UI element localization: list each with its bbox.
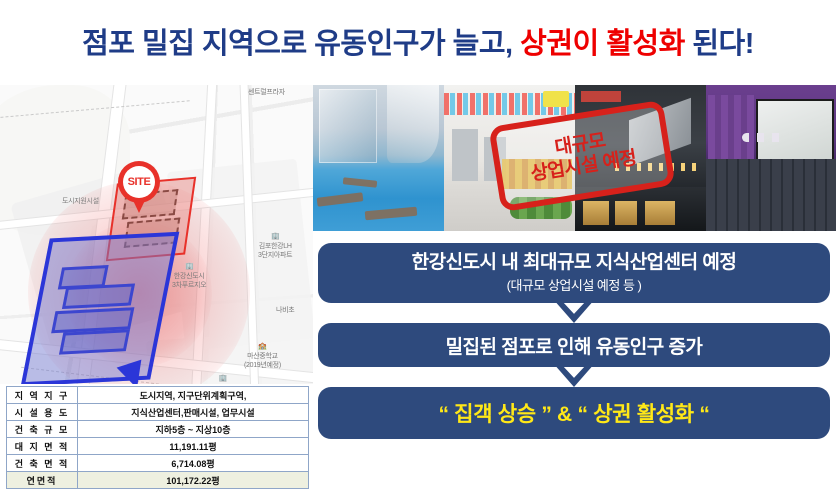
photo-detail (756, 99, 834, 165)
photo-detail (365, 207, 418, 220)
map-label-line2: 3단지아파트 (258, 252, 292, 259)
flow-box-3: “ 집객 상승 ” & “ 상권 활성화 “ (318, 387, 830, 439)
table-row: 지 역 지 구 도시지역, 지구단위계획구역, (7, 387, 309, 404)
photo-detail (583, 201, 609, 225)
table-row: 연면적 101,172.22평 (7, 472, 309, 489)
map-label-nabi-elem: 나비초 (276, 307, 294, 316)
map-label-hangang-prugio: 🏢 한강신도시 3차푸르지오 (172, 263, 206, 290)
map-label-line2: (2019년예정) (244, 362, 281, 369)
flow-box-1-line2: (대규모 상업시설 예정 등 ) (507, 275, 642, 294)
slide-root: 점포 밀집 지역으로 유동인구가 늘고, 상권이 활성화 된다! (0, 0, 836, 493)
building-icon: 🏢 (186, 375, 260, 384)
flow-box-1: 한강신도시 내 최대규모 지식산업센터 예정 (대규모 상업시설 예정 등 ) (318, 243, 830, 303)
table-cell-value: 11,191.11평 (78, 438, 309, 455)
building-icon: 🏢 (172, 263, 206, 272)
title-text-part1: 점포 밀집 지역으로 유동인구가 늘고, (82, 28, 520, 60)
map-label-gimpo-lh: 🏢 김포한강LH 3단지아파트 (258, 233, 292, 260)
map-label-central-plaza: 센트럴프라자 (248, 89, 285, 98)
table-cell-key: 건 축 규 모 (7, 421, 78, 438)
map-parcel-block (59, 329, 130, 354)
table-cell-key: 연면적 (7, 472, 78, 489)
table-cell-value: 6,714.08평 (78, 455, 309, 472)
table-row: 시 설 용 도 지식산업센터,판매시설, 업무시설 (7, 404, 309, 421)
photo-detail (742, 133, 786, 142)
table-cell-value: 101,172.22평 (78, 472, 309, 489)
map-label-masan-middle: 🏫 마산중학교 (2019년예정) (244, 343, 281, 370)
map-label-dosiji: 도시지원시설 (62, 198, 99, 207)
photo-detail (615, 201, 637, 225)
table-row: 건 축 면 적 6,714.08평 (7, 455, 309, 472)
table-cell-key: 지 역 지 구 (7, 387, 78, 404)
photo-detail (343, 177, 378, 188)
building-icon: 🏢 (258, 233, 292, 242)
cinema-photo (706, 85, 836, 231)
flow-box-2-line1: 밀집된 점포로 인해 유동인구 증가 (446, 332, 703, 359)
flow-box-3-line1: “ 집객 상승 ” & “ 상권 활성화 “ (438, 398, 709, 428)
table-cell-value: 도시지역, 지구단위계획구역, (78, 387, 309, 404)
photo-detail (543, 91, 569, 107)
table-row: 건 축 규 모 지하5층 ~ 지상10층 (7, 421, 309, 438)
map-label-line1: 마산중학교 (247, 353, 278, 360)
flow-box-2: 밀집된 점포로 인해 유동인구 증가 (318, 323, 830, 367)
table-cell-key: 대 지 면 적 (7, 438, 78, 455)
title-bar: 점포 밀집 지역으로 유동인구가 늘고, 상권이 활성화 된다! (0, 0, 836, 82)
map-label-line1: 한강신도시 (174, 273, 205, 280)
photo-detail (452, 129, 478, 181)
school-icon: 🏫 (244, 343, 281, 352)
photo-detail (706, 159, 836, 231)
map-site-pin[interactable]: SITE (118, 161, 160, 213)
title-text-highlight: 상권이 활성화 (520, 28, 685, 60)
table-cell-value: 지식산업센터,판매시설, 업무시설 (78, 404, 309, 421)
map-pin-head-icon: SITE (118, 161, 160, 203)
location-map[interactable]: SITE 도시지원시설 센트럴프라자 🏢 한강신도시 3차푸르지오 🏢 김포한강… (0, 85, 313, 384)
map-pin-label: SITE (123, 166, 155, 198)
flow-box-1-line1: 한강신도시 내 최대규모 지식산업센터 예정 (412, 252, 737, 274)
photo-detail (645, 201, 675, 225)
map-label-geumseong: 🏢 한강신도시금성백조예미지 (2018년9월예정) (186, 375, 260, 384)
table-cell-value: 지하5층 ~ 지상10층 (78, 421, 309, 438)
photo-detail (581, 91, 621, 102)
map-parcel-block (62, 283, 135, 309)
waterpark-photo (313, 85, 444, 231)
spec-table: 지 역 지 구 도시지역, 지구단위계획구역, 시 설 용 도 지식산업센터,판… (6, 386, 309, 489)
table-cell-key: 시 설 용 도 (7, 404, 78, 421)
flow-diagram: 한강신도시 내 최대규모 지식산업센터 예정 (대규모 상업시설 예정 등 ) … (318, 243, 830, 439)
photo-detail (708, 95, 754, 165)
photo-detail (317, 192, 364, 207)
map-label-line1: 김포한강LH (259, 243, 292, 250)
title-text-part2: 된다! (685, 28, 754, 60)
table-cell-key: 건 축 면 적 (7, 455, 78, 472)
page-title: 점포 밀집 지역으로 유동인구가 늘고, 상권이 활성화 된다! (82, 20, 754, 62)
map-label-line2: 3차푸르지오 (172, 282, 206, 289)
table-row: 대 지 면 적 11,191.11평 (7, 438, 309, 455)
